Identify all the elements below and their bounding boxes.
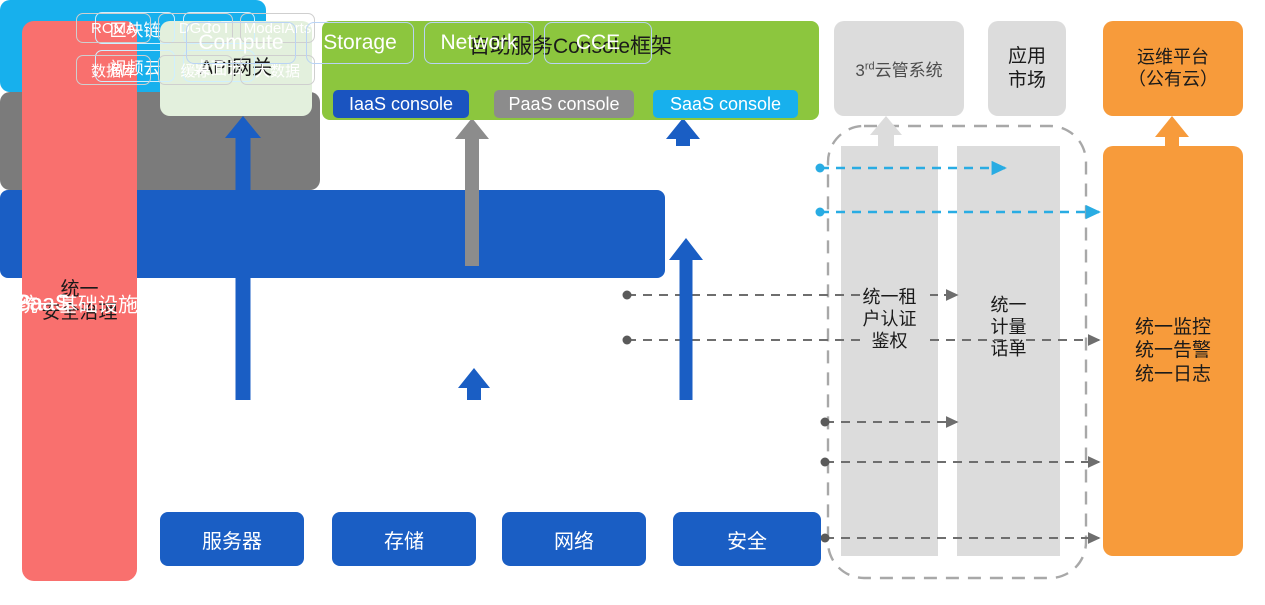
infra-chip-cce[interactable]: CCE (544, 22, 652, 64)
paas-console-chip[interactable]: PaaS console (494, 90, 634, 118)
resource-box-storage[interactable]: 存储 (332, 512, 476, 566)
unified-infrastructure-service-label: 统一基础设施服务 (18, 288, 178, 317)
unified-billing-label-wrap: 统一 计量 话单 (957, 278, 1060, 378)
resource-box-security[interactable]: 安全 (673, 512, 821, 566)
saas-console-chip[interactable]: SaaS console (653, 90, 798, 118)
app-market-box: 应用 市场 (988, 21, 1066, 116)
blue-up-arrow-to-paas (458, 368, 490, 400)
gray-up-arrow-to-third-party-cloud (870, 116, 902, 149)
unified-tenant-auth-label: 统一租 户认证 鉴权 (863, 287, 917, 353)
paas-chip-database[interactable]: 数据库 (76, 55, 151, 85)
infra-chip-compute[interactable]: Compute (186, 22, 296, 64)
ops-platform-body-label: 统一监控 统一告警 统一日志 (1135, 316, 1211, 386)
ops-platform-body-box: 统一监控 统一告警 统一日志 (1103, 146, 1243, 556)
resource-box-network[interactable]: 网络 (502, 512, 646, 566)
ops-platform-header-box: 运维平台 （公有云） (1103, 21, 1243, 116)
iaas-console-chip[interactable]: IaaS console (333, 90, 469, 118)
ops-platform-header-label: 运维平台 （公有云） (1128, 47, 1218, 91)
blue-up-arrow-to-saas (669, 238, 703, 400)
app-market-label: 应用 市场 (1008, 45, 1046, 91)
unified-tenant-auth-label-wrap: 统一租 户认证 鉴权 (841, 270, 938, 370)
unified-billing-label: 统一 计量 话单 (991, 295, 1027, 361)
blue-up-arrow-to-saas-console (666, 118, 700, 146)
third-party-cloud-management-box: 3rd云管系统 (834, 21, 964, 116)
third-party-label: 3rd云管系统 (855, 56, 942, 81)
orange-up-arrow-to-ops-platform (1155, 116, 1189, 146)
architecture-diagram: 统一 安全治理 API网关 自助服务Console框架 IaaS console… (0, 0, 1265, 605)
infra-chip-network[interactable]: Network (424, 22, 534, 64)
infra-chip-storage[interactable]: Storage (306, 22, 414, 64)
resource-box-server[interactable]: 服务器 (160, 512, 304, 566)
paas-chip-roma[interactable]: ROMA (76, 13, 151, 43)
third-party-superscript: rd (865, 60, 875, 72)
